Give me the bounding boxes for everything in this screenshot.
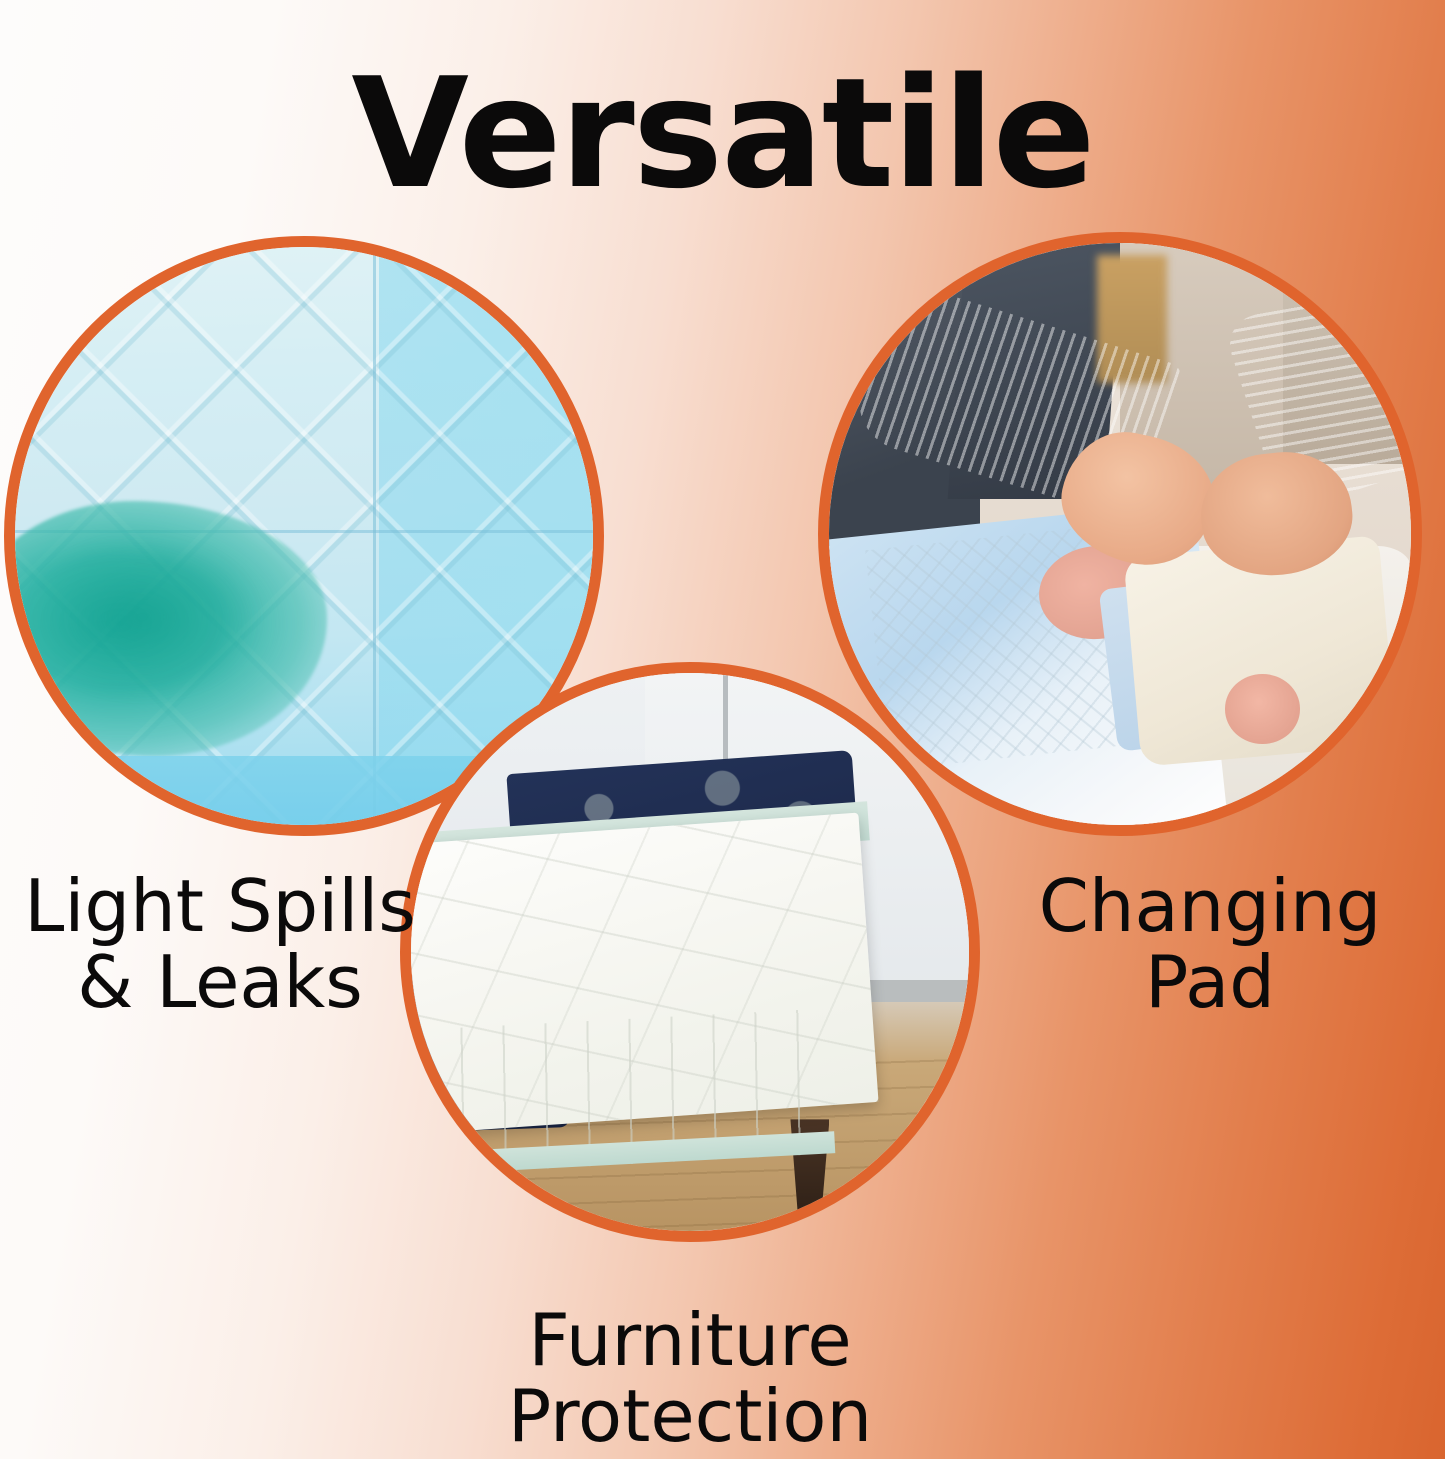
product-feature-poster: Versatile: [0, 0, 1445, 1459]
feature-image-furniture-protection: [400, 662, 980, 1242]
vertical-fold-line: [373, 247, 376, 825]
baby-foot: [1225, 674, 1301, 744]
page-title: Versatile: [0, 58, 1445, 210]
feature-caption-light-spills: Light Spills & Leaks: [10, 868, 430, 1021]
spill-core: [27, 536, 258, 698]
feature-caption-changing-pad: Changing Pad: [1015, 868, 1405, 1021]
feature-caption-furniture-protection: Furniture Protection: [340, 1302, 1040, 1455]
photo-furniture-protection: [411, 673, 969, 1231]
